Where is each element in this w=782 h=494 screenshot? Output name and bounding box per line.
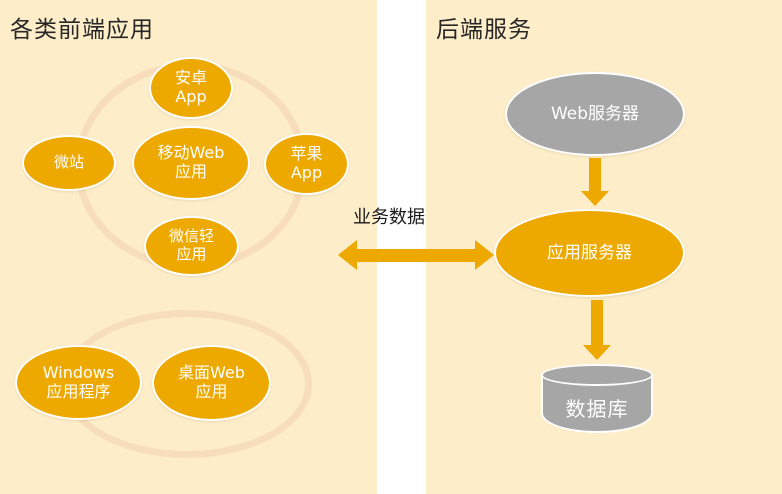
arrow-shaft [591, 300, 603, 346]
node-app-server[interactable]: 应用服务器 [494, 209, 685, 297]
node-mobile-web-app[interactable]: 移动Web 应用 [132, 126, 250, 200]
node-weizhan[interactable]: 微站 [22, 135, 116, 191]
node-database[interactable]: 数据库 [541, 364, 653, 437]
arrow-app-server-to-database [577, 300, 617, 362]
node-apple-app[interactable]: 苹果 App [264, 133, 349, 195]
database-label: 数据库 [541, 382, 653, 432]
node-desktop-web-app[interactable]: 桌面Web 应用 [152, 345, 271, 421]
frontend-panel-title: 各类前端应用 [10, 10, 154, 44]
arrow-frontend-backend-bidirectional [338, 240, 494, 270]
arrow-shaft [589, 158, 601, 192]
arrow-shaft [355, 249, 477, 262]
arrow-head-right-icon [475, 240, 494, 270]
node-web-server[interactable]: Web服务器 [505, 72, 685, 156]
arrow-head-down-icon [583, 345, 611, 360]
arrow-head-down-icon [581, 191, 609, 206]
business-data-label: 业务数据 [353, 203, 425, 229]
backend-panel-title: 后端服务 [436, 10, 532, 44]
arrow-web-to-app-server [575, 158, 615, 206]
node-wechat-lite-app[interactable]: 微信轻 应用 [144, 216, 239, 276]
node-android-app[interactable]: 安卓 App [149, 57, 233, 119]
node-windows-application[interactable]: Windows 应用程序 [15, 345, 142, 420]
diagram-canvas: 各类前端应用 后端服务 安卓 App 微站 移动Web 应用 苹果 App 微信… [0, 0, 782, 494]
